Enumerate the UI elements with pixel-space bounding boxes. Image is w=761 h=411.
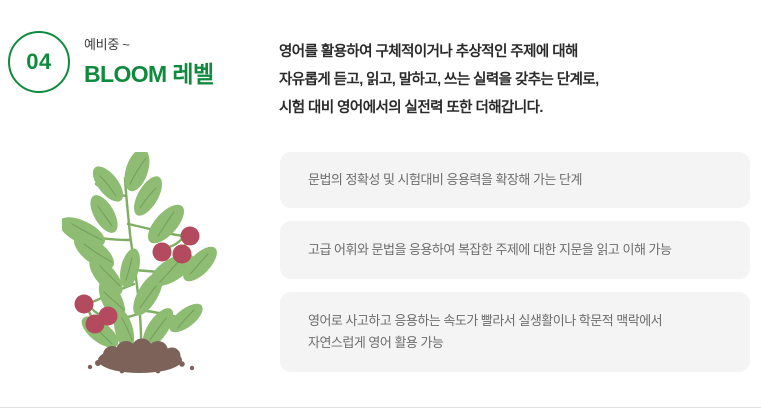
level-description: 영어를 활용하여 구체적이거나 추상적인 주제에 대해 자유롭게 듣고, 읽고,…	[279, 38, 749, 122]
level-badge-number: 04	[26, 51, 51, 73]
title-block: 예비중 ~ BLOOM 레벨	[84, 36, 214, 88]
level-badge: 04	[8, 31, 70, 93]
section-divider	[0, 407, 761, 408]
level-eyebrow-label: 예비중 ~	[84, 36, 214, 54]
description-line-2: 자유롭게 듣고, 읽고, 말하고, 쓰는 실력을 갖추는 단계로,	[279, 66, 749, 94]
feature-card-vocabulary: 고급 어휘와 문법을 응용하여 복잡한 주제에 대한 지문을 읽고 이해 가능	[280, 221, 750, 279]
berry-plant-svg	[62, 152, 274, 380]
feature-card-vocabulary-line-1: 고급 어휘와 문법을 응용하여 복잡한 주제에 대한 지문을 읽고 이해 가능	[308, 239, 722, 261]
feature-card-grammar: 문법의 정확성 및 시험대비 응용력을 확장해 가는 단계	[280, 152, 750, 208]
level-title: BLOOM 레벨	[84, 61, 214, 87]
description-line-1: 영어를 활용하여 구체적이거나 추상적인 주제에 대해	[279, 38, 749, 66]
description-line-3: 시험 대비 영어에서의 실전력 또한 더해갑니다.	[279, 94, 749, 122]
feature-card-grammar-line-1: 문법의 정확성 및 시험대비 응용력을 확장해 가는 단계	[308, 169, 722, 191]
feature-card-fluency: 영어로 사고하고 응용하는 속도가 빨라서 실생활이나 학문적 맥락에서 자연스…	[280, 292, 750, 372]
feature-card-list: 문법의 정확성 및 시험대비 응용력을 확장해 가는 단계 고급 어휘와 문법을…	[280, 152, 750, 372]
berry-plant-illustration	[62, 152, 274, 380]
bloom-level-section: 04 예비중 ~ BLOOM 레벨 영어를 활용하여 구체적이거나 추상적인 주…	[0, 0, 761, 411]
feature-card-fluency-line-2: 자연스럽게 영어 활용 가능	[308, 332, 722, 354]
section-header: 04 예비중 ~ BLOOM 레벨 영어를 활용하여 구체적이거나 추상적인 주…	[0, 0, 761, 140]
feature-card-fluency-line-1: 영어로 사고하고 응용하는 속도가 빨라서 실생활이나 학문적 맥락에서	[308, 310, 722, 332]
